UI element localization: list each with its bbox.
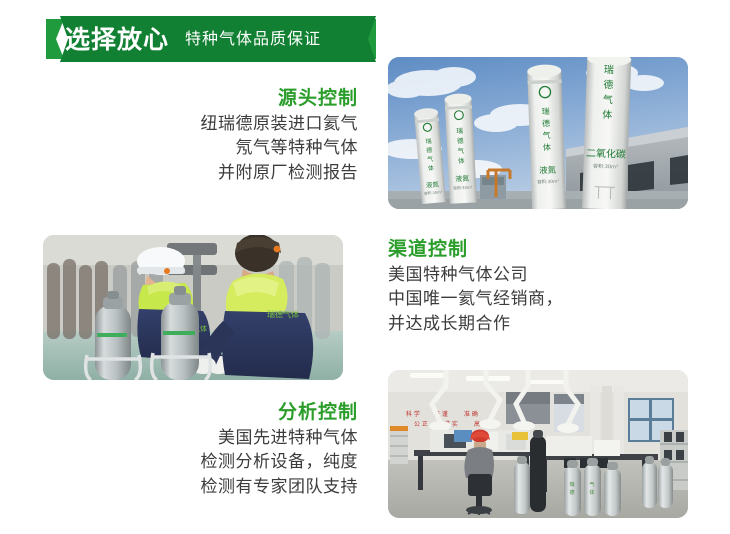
- svg-text:公 正: 公 正: [414, 421, 428, 428]
- block-line: 美国特种气体公司: [388, 263, 638, 288]
- block-heading-source: 源头控制: [118, 86, 358, 112]
- storage-tanks-illustration: 瑞 德 气 体 液氮 容积:30m³ 瑞 德 气 体: [388, 57, 688, 209]
- text-block-channel-control: 渠道控制 美国特种气体公司 中国唯一氦气经销商， 并达成长期合作: [388, 237, 638, 337]
- banner-subtitle: 特种气体品质保证: [185, 31, 321, 47]
- block-line: 美国先进特种气体: [118, 426, 358, 451]
- svg-text:德: 德: [603, 78, 613, 91]
- svg-text:液氮: 液氮: [426, 179, 440, 189]
- svg-text:德: 德: [426, 146, 433, 154]
- svg-text:德: 德: [569, 489, 574, 496]
- banner-text-group: 选择放心 特种气体品质保证: [46, 16, 376, 62]
- block-line: 检测有专家团队支持: [118, 475, 358, 500]
- svg-text:瑞: 瑞: [569, 481, 574, 488]
- svg-text:德: 德: [542, 118, 550, 128]
- svg-text:气: 气: [427, 155, 434, 163]
- svg-text:气: 气: [542, 130, 550, 140]
- workers-illustration: 瑞德气体 瑞德气体: [43, 235, 343, 380]
- svg-text:体: 体: [428, 164, 435, 172]
- block-line: 中国唯一氦气经销商，: [388, 287, 638, 312]
- block-line: 纽瑞德原装进口氦气: [118, 112, 358, 137]
- photo-workers-cylinders: 瑞德气体 瑞德气体: [43, 235, 343, 380]
- svg-text:气: 气: [603, 93, 613, 106]
- svg-text:液氮: 液氮: [539, 165, 557, 177]
- text-block-analysis-control: 分析控制 美国先进特种气体 检测分析设备，纯度 检测有专家团队支持: [118, 400, 358, 500]
- block-line: 氖气等特种气体: [118, 136, 358, 161]
- svg-text:体: 体: [589, 489, 594, 496]
- text-block-source-control: 源头控制 纽瑞德原装进口氦气 氖气等特种气体 并附原厂检测报告: [118, 86, 358, 186]
- svg-text:科 学: 科 学: [406, 410, 420, 418]
- svg-text:瑞德气体: 瑞德气体: [267, 309, 299, 319]
- svg-text:容积:30m³: 容积:30m³: [593, 163, 618, 171]
- photo-storage-tanks: 瑞 德 气 体 液氮 容积:30m³ 瑞 德 气 体: [388, 57, 688, 209]
- svg-text:体: 体: [458, 156, 465, 165]
- svg-text:体: 体: [602, 109, 612, 121]
- laboratory-illustration: 科 学严 谨准 确 公 正求 实高 效: [388, 370, 688, 518]
- svg-text:容积:30m³: 容积:30m³: [453, 185, 473, 191]
- block-line: 并达成长期合作: [388, 312, 638, 337]
- block-heading-channel: 渠道控制: [388, 237, 638, 263]
- svg-text:瑞: 瑞: [604, 64, 614, 76]
- svg-text:气: 气: [589, 481, 594, 488]
- block-heading-analysis: 分析控制: [118, 400, 358, 426]
- header-ribbon-banner: 选择放心 特种气体品质保证: [46, 16, 376, 62]
- block-line: 检测分析设备，纯度: [118, 450, 358, 475]
- svg-text:瑞: 瑞: [456, 126, 463, 135]
- svg-text:德: 德: [457, 136, 464, 145]
- infographic-page: 选择放心 特种气体品质保证 源头控制 纽瑞德原装进口氦气 氖气等特种气体 并附原…: [0, 0, 730, 534]
- svg-text:准 确: 准 确: [464, 410, 478, 418]
- block-line: 并附原厂检测报告: [118, 161, 358, 186]
- svg-text:体: 体: [543, 142, 551, 152]
- svg-text:瑞: 瑞: [425, 137, 432, 145]
- photo-analysis-laboratory: 科 学严 谨准 确 公 正求 实高 效: [388, 370, 688, 518]
- svg-text:液氮: 液氮: [455, 174, 469, 184]
- banner-title: 选择放心: [65, 27, 169, 52]
- svg-text:瑞: 瑞: [541, 106, 549, 116]
- svg-text:气: 气: [457, 146, 464, 155]
